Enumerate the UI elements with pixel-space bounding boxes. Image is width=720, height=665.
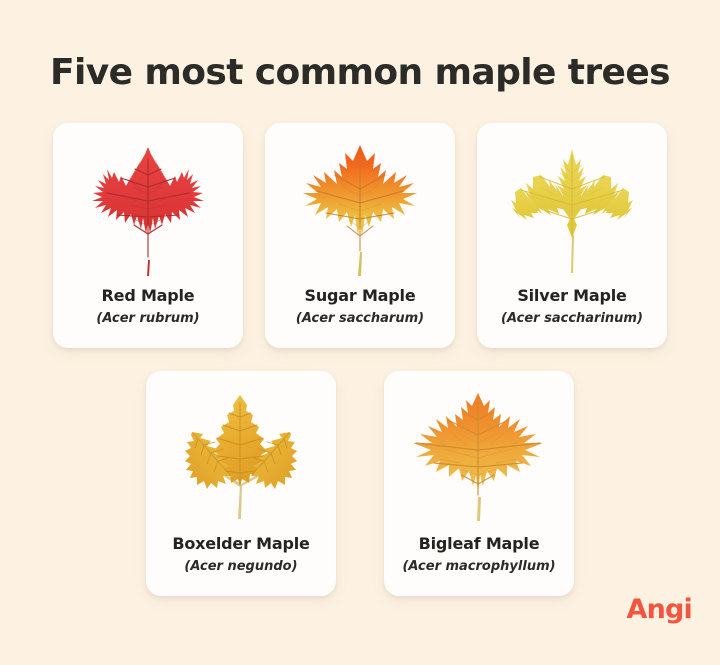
species-name: Silver Maple bbox=[517, 287, 626, 305]
species-card-silver-maple[interactable]: Silver Maple (Acer saccharinum) bbox=[477, 123, 667, 348]
species-name: Bigleaf Maple bbox=[419, 535, 540, 553]
card-row-top: Red Maple (Acer rubrum) bbox=[0, 123, 720, 348]
species-name: Sugar Maple bbox=[305, 287, 416, 305]
boxelder-maple-leaf-icon bbox=[166, 387, 316, 525]
species-card-bigleaf-maple[interactable]: Bigleaf Maple (Acer macrophyllum) bbox=[384, 371, 574, 596]
species-card-red-maple[interactable]: Red Maple (Acer rubrum) bbox=[53, 123, 243, 348]
bigleaf-maple-leaf-icon bbox=[404, 387, 554, 525]
angi-brand-logo[interactable]: Angi bbox=[627, 596, 693, 623]
species-latin-name: (Acer saccharinum) bbox=[501, 312, 643, 326]
species-card-sugar-maple[interactable]: Sugar Maple (Acer saccharum) bbox=[265, 123, 455, 348]
card-row-bottom: Boxelder Maple (Acer negundo) bbox=[0, 371, 720, 596]
species-card-boxelder-maple[interactable]: Boxelder Maple (Acer negundo) bbox=[146, 371, 336, 596]
species-latin-name: (Acer rubrum) bbox=[96, 312, 199, 326]
species-latin-name: (Acer macrophyllum) bbox=[402, 560, 555, 574]
page-title: Five most common maple trees bbox=[0, 52, 720, 93]
species-latin-name: (Acer negundo) bbox=[184, 560, 297, 574]
red-maple-leaf-icon bbox=[73, 139, 223, 277]
sugar-maple-leaf-icon bbox=[285, 139, 435, 277]
infographic-canvas: Five most common maple trees bbox=[0, 0, 720, 665]
species-latin-name: (Acer saccharum) bbox=[296, 312, 424, 326]
silver-maple-leaf-icon bbox=[497, 139, 647, 277]
species-name: Red Maple bbox=[102, 287, 195, 305]
species-name: Boxelder Maple bbox=[172, 535, 309, 553]
